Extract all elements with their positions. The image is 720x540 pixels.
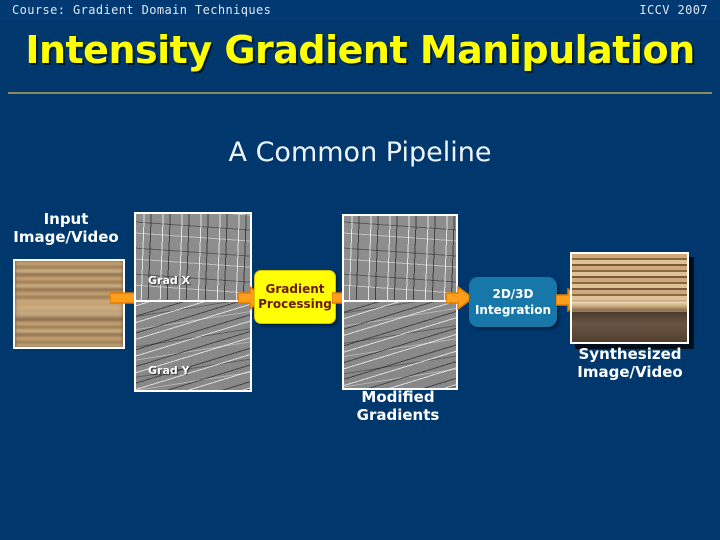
modified-gradients-label: Modified Gradients [336, 388, 460, 424]
integration-box[interactable]: 2D/3D Integration [469, 277, 557, 327]
gradient-processing-line1: Gradient [266, 282, 325, 297]
slide-canvas: Course: Gradient Domain Techniques ICCV … [0, 0, 720, 540]
gradient-fields-panel: Grad X Grad Y [134, 212, 252, 392]
title-divider [8, 92, 712, 94]
gradient-processing-line2: Processing [258, 297, 332, 312]
modified-gradients-label-line2: Gradients [336, 406, 460, 424]
synthesized-image-shelf [572, 302, 687, 310]
synthesized-image-lower [572, 312, 687, 342]
input-image-shelf [15, 311, 123, 317]
grad-x-texture [136, 214, 250, 302]
grad-y-label: Grad Y [148, 364, 190, 377]
conference-label: ICCV 2007 [639, 3, 708, 17]
synthesized-label-line1: Synthesized [563, 345, 697, 363]
integration-line2: Integration [475, 302, 551, 318]
grad-x-panel [136, 214, 250, 302]
synthesized-image-thumbnail [570, 252, 689, 344]
grad-x-label: Grad X [148, 274, 190, 287]
modified-grad-x-texture [344, 216, 456, 302]
synthesized-label-line2: Image/Video [563, 363, 697, 381]
course-label: Course: Gradient Domain Techniques [12, 3, 271, 17]
input-image-thumbnail [13, 259, 125, 349]
modified-gradients-panel [342, 214, 458, 390]
synthesized-label: Synthesized Image/Video [563, 345, 697, 381]
page-title: Intensity Gradient Manipulation [0, 28, 720, 72]
input-label-line1: Input [0, 210, 132, 228]
gradient-processing-box[interactable]: Gradient Processing [254, 270, 336, 324]
slide-subtitle: A Common Pipeline [0, 137, 720, 168]
input-label-line2: Image/Video [0, 228, 132, 246]
modified-grad-y-texture [344, 300, 456, 388]
input-label: Input Image/Video [0, 210, 132, 246]
modified-gradients-label-line1: Modified [336, 388, 460, 406]
input-image-content [15, 261, 123, 347]
integration-line1: 2D/3D [492, 286, 533, 302]
modified-grad-y-panel [344, 300, 456, 388]
modified-grad-x-panel [344, 216, 456, 302]
